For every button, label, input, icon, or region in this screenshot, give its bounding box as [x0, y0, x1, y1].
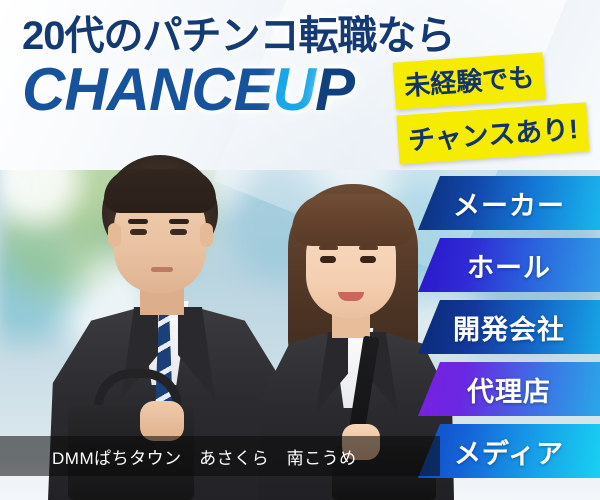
menu-item-maker[interactable]: メーカー — [418, 176, 600, 230]
woman-fringe — [292, 194, 414, 246]
woman-brow-left — [319, 246, 338, 250]
advertisement-banner[interactable]: 20代のパチンコ転職なら CHANCEUP 未経験でも チャンスあり! メーカー… — [0, 0, 600, 500]
menu-item-development-company-label: 開発会社 — [453, 308, 565, 347]
man-eye-right — [170, 229, 187, 235]
logo-letter-u: U — [273, 56, 315, 123]
chance-up-logo: CHANCEUP — [22, 60, 455, 120]
woman-eye-left — [320, 256, 336, 263]
menu-item-agency[interactable]: 代理店 — [418, 362, 600, 416]
woman-brow-right — [359, 246, 378, 250]
menu-item-media[interactable]: メディア — [418, 424, 600, 478]
man-mouth — [151, 267, 173, 272]
man-brow-left — [128, 219, 148, 224]
logo-word-chance: CHANCE — [22, 56, 273, 123]
menu-item-hall-label: ホール — [467, 246, 551, 285]
promo-badges: 未経験でも チャンスあり! — [393, 49, 590, 164]
menu-item-media-label: メディア — [454, 432, 564, 471]
category-menu: メーカー ホール 開発会社 代理店 メディア — [418, 176, 600, 486]
menu-item-development-company[interactable]: 開発会社 — [418, 300, 600, 354]
menu-item-agency-label: 代理店 — [467, 370, 551, 409]
man-eye-left — [130, 229, 147, 235]
badge-inexperienced: 未経験でも — [393, 52, 546, 109]
logo-letter-p: P — [315, 56, 354, 123]
man-brow-right — [169, 219, 189, 224]
headline-line1: 20代のパチンコ転職なら — [22, 16, 455, 56]
woman-eye-right — [360, 256, 376, 263]
man-ear-right — [200, 223, 213, 247]
headline-block: 20代のパチンコ転職なら CHANCEUP — [22, 16, 455, 120]
man-fringe — [104, 169, 216, 213]
credit-strip: DMMぱちタウン あさくら 南こうめ — [0, 436, 440, 476]
menu-item-maker-label: メーカー — [453, 184, 565, 223]
man-ear-left — [108, 223, 121, 247]
man-hand — [140, 401, 184, 441]
credit-text: DMMぱちタウン あさくら 南こうめ — [0, 444, 357, 469]
menu-item-hall[interactable]: ホール — [418, 238, 600, 292]
